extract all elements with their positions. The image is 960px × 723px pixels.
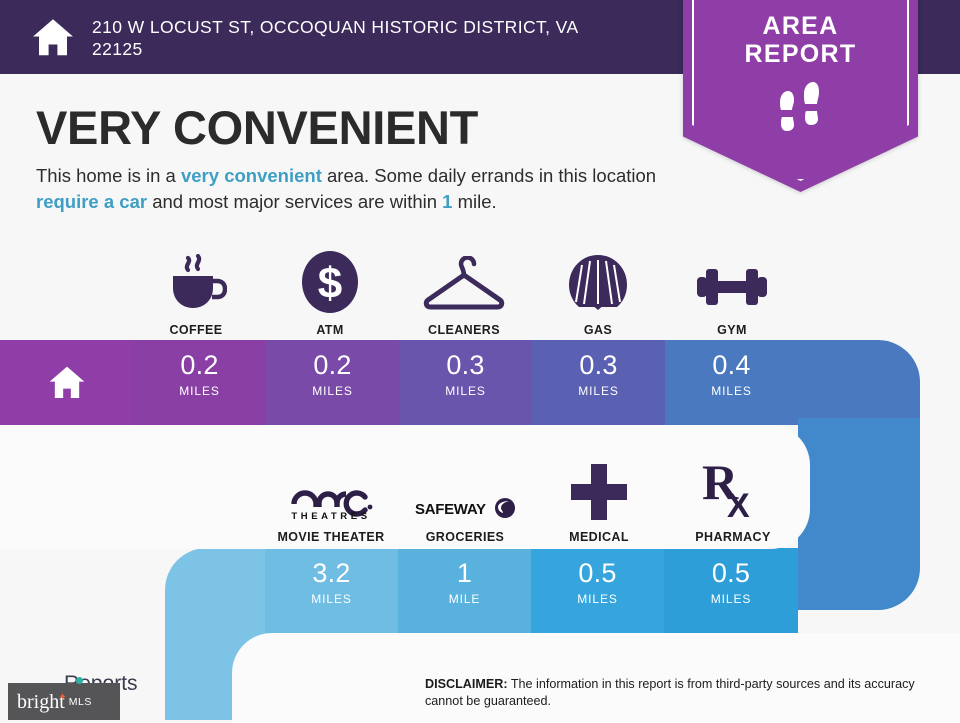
amenity-cleaners: CLEANERS (397, 248, 531, 337)
amenity-movie-theater: THEATRES MOVIE THEATER (264, 455, 398, 544)
bright-mls-logo: bright ✦ MLS (8, 683, 120, 720)
shell-icon (531, 248, 665, 314)
footprints-icon (772, 80, 830, 138)
amenity-atm: $ ATM (263, 248, 397, 337)
badge-title: AREA REPORT (683, 12, 918, 68)
page-title: VERY CONVENIENT (36, 100, 478, 155)
desc-text-3: and most major services are within (147, 191, 442, 212)
ribbon-segment-pharmacy: 0.5 MILES (664, 548, 798, 633)
amenity-gas: GAS (531, 248, 665, 337)
svg-text:THEATRES: THEATRES (291, 511, 370, 521)
amenity-medical: MEDICAL (532, 455, 666, 544)
address-line-1: 210 W LOCUST ST, OCCOQUAN HISTORIC DISTR… (92, 16, 579, 38)
disclaimer: DISCLAIMER: The information in this repo… (425, 676, 935, 710)
ribbon-segment-medical: 0.5 MILES (531, 548, 664, 633)
amenity-coffee: COFFEE (129, 248, 263, 337)
amenity-gym: GYM (665, 248, 799, 337)
amenity-label: MEDICAL (532, 530, 666, 544)
ribbon-segment-gas: 0.3 MILES (532, 340, 665, 425)
cross-icon (532, 455, 666, 521)
distance-value: 3.2 (265, 560, 398, 587)
area-report-badge: AREA REPORT (683, 0, 918, 192)
desc-highlight-3: 1 (442, 191, 452, 212)
distance-unit: MILES (532, 384, 665, 398)
distance-unit: MILES (265, 592, 398, 606)
distance-value: 0.2 (266, 352, 399, 379)
distance-unit: MILES (531, 592, 664, 606)
svg-text:X: X (727, 487, 750, 521)
amenity-label: GROCERIES (398, 530, 532, 544)
distance-value: 0.5 (664, 560, 798, 587)
distance-unit: MILE (398, 592, 531, 606)
home-icon (46, 363, 88, 403)
desc-highlight-1: very convenient (181, 165, 322, 186)
home-icon (30, 15, 76, 61)
amenity-label: PHARMACY (666, 530, 800, 544)
mls-star-icon: ✦ (58, 693, 66, 703)
dumbbell-icon (665, 248, 799, 314)
amenity-label: ATM (263, 323, 397, 337)
distance-unit: MILES (665, 384, 798, 398)
svg-text:SAFEWAY: SAFEWAY (415, 501, 486, 518)
mls-logo-sub: MLS (69, 696, 92, 708)
desc-text-1: This home is in a (36, 165, 181, 186)
svg-text:$: $ (318, 259, 342, 308)
rx-icon: R X (666, 455, 800, 521)
amc-logo: THEATRES (264, 455, 398, 521)
coffee-icon (129, 248, 263, 314)
distance-unit: MILES (399, 384, 532, 398)
desc-text-2: area. Some daily errands in this locatio… (322, 165, 656, 186)
distance-value: 0.5 (531, 560, 664, 587)
distance-unit: MILES (133, 384, 266, 398)
mls-accent-dot (76, 677, 83, 684)
hanger-icon (397, 248, 531, 314)
distance-value: 0.4 (665, 352, 798, 379)
distance-value: 0.3 (532, 352, 665, 379)
badge-line-1: AREA (683, 12, 918, 40)
amenity-label: MOVIE THEATER (264, 530, 398, 544)
amenity-label: CLEANERS (397, 323, 531, 337)
address-line-2: 22125 (92, 38, 579, 60)
amenity-pharmacy: R X PHARMACY (666, 455, 800, 544)
property-address: 210 W LOCUST ST, OCCOQUAN HISTORIC DISTR… (92, 16, 579, 61)
summary-description: This home is in a very convenient area. … (36, 163, 686, 216)
mls-logo-name: bright ✦ (17, 692, 65, 712)
distance-value: 0.2 (133, 352, 266, 379)
ribbon-segment-movie: 3.2 MILES (265, 548, 398, 633)
area-report-page: 0.2 MILES 0.2 MILES 0.3 MILES 0.3 MILES (0, 0, 960, 720)
safeway-logo: SAFEWAY (398, 455, 532, 521)
distance-value: 1 (398, 560, 531, 587)
desc-text-4: mile. (452, 191, 496, 212)
amenity-groceries: SAFEWAY GROCERIES (398, 455, 532, 544)
ribbon-segment-gym: 0.4 MILES (665, 340, 798, 425)
amenity-label: GAS (531, 323, 665, 337)
ribbon-home-segment (0, 340, 133, 425)
badge-line-2: REPORT (683, 40, 918, 68)
distance-unit: MILES (664, 592, 798, 606)
amenity-label: COFFEE (129, 323, 263, 337)
desc-highlight-2: require a car (36, 191, 147, 212)
ribbon-segment-atm: 0.2 MILES (266, 340, 399, 425)
distance-unit: MILES (266, 384, 399, 398)
distance-value: 0.3 (399, 352, 532, 379)
ribbon-segment-coffee: 0.2 MILES (133, 340, 266, 425)
ribbon-segment-groceries: 1 MILE (398, 548, 531, 633)
atm-icon: $ (263, 248, 397, 314)
disclaimer-label: DISCLAIMER: (425, 677, 508, 691)
amenity-label: GYM (665, 323, 799, 337)
ribbon-segment-cleaners: 0.3 MILES (399, 340, 532, 425)
ribbon-bend-right-bottom (798, 418, 920, 610)
